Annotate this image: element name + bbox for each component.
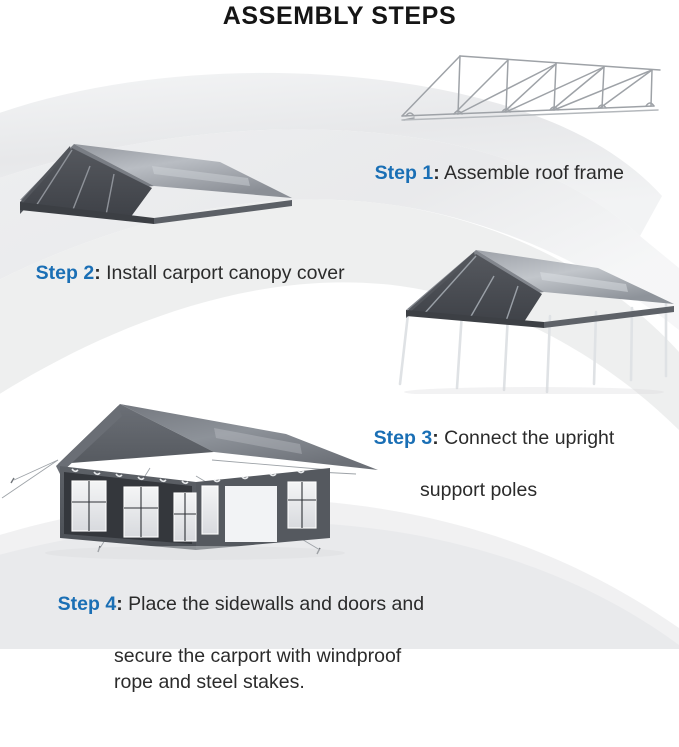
step-2-caption: Step 2: Install carport canopy cover (14, 234, 345, 312)
illustration-complete-carport (0, 398, 380, 570)
step-3-text-line2: support poles (352, 477, 614, 503)
illustration-canopy-cover (2, 126, 294, 234)
step-1-number: Step 1 (375, 162, 434, 184)
step-3-text: Connect the upright (439, 427, 615, 449)
step-1-text: Assemble roof frame (440, 162, 624, 184)
assembly-steps-poster: ASSEMBLY STEPS (0, 0, 679, 649)
step-2-text: Install carport canopy cover (101, 262, 345, 284)
step-4-caption: Step 4: Place the sidewalls and doors an… (36, 565, 424, 747)
illustration-canopy-on-poles (384, 242, 676, 394)
step-1-caption: Step 1: Assemble roof frame (353, 134, 624, 212)
step-3-caption: Step 3: Connect the upright support pole… (352, 399, 614, 555)
step-3-number: Step 3 (374, 427, 433, 449)
step-2-number: Step 2 (36, 262, 95, 284)
step-4-text: Place the sidewalls and doors and (123, 593, 424, 615)
step-4-text-line2: secure the carport with windproof rope a… (36, 643, 424, 695)
step-4-number: Step 4 (58, 593, 117, 615)
illustration-roof-frame (392, 48, 668, 134)
